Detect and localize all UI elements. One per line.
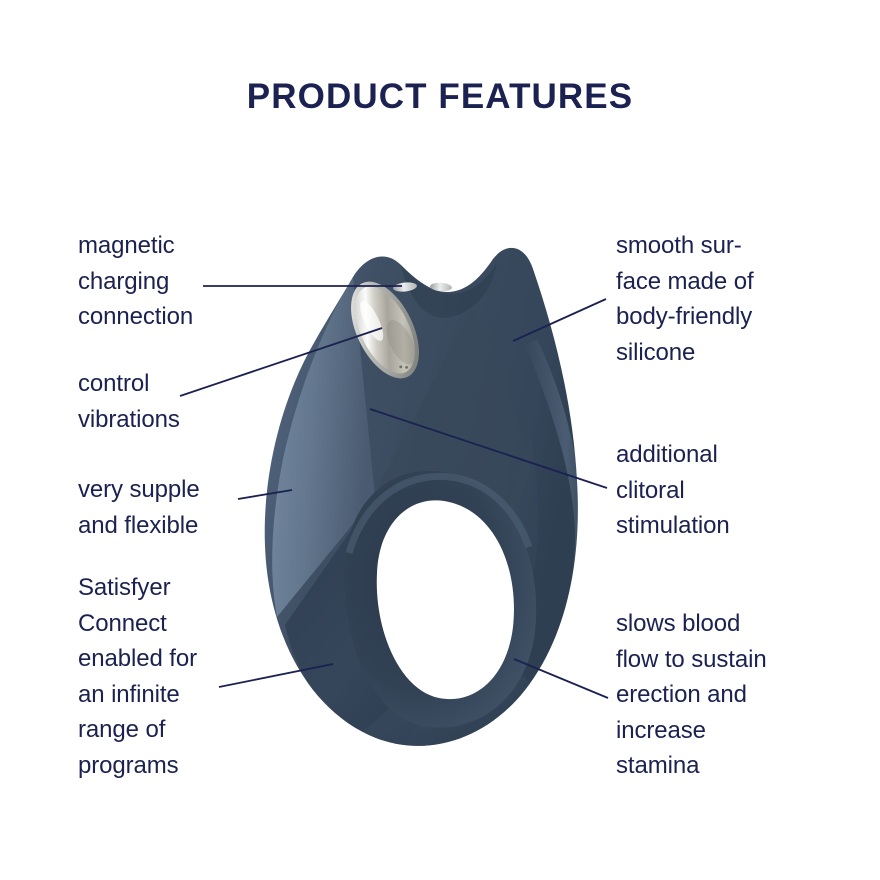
callout-slows-blood-flow-stamina: slows blood flow to sustain erection and…	[616, 606, 826, 784]
callout-control-vibrations: control vibrations	[78, 366, 238, 437]
product-features-infographic: PRODUCT FEATURES	[0, 0, 880, 880]
page-title: PRODUCT FEATURES	[0, 78, 880, 117]
callout-very-supple-and-flexible: very supple and flexible	[78, 472, 248, 543]
callout-additional-clitoral-stimulation: additional clitoral stimulation	[616, 437, 816, 544]
callout-smooth-surface-silicone: smooth sur- face made of body-friendly s…	[616, 228, 816, 370]
callout-satisfyer-connect-programs: Satisfyer Connect enabled for an infinit…	[78, 570, 248, 783]
product-illustration	[225, 235, 645, 765]
callout-magnetic-charging-connection: magnetic charging connection	[78, 228, 238, 335]
